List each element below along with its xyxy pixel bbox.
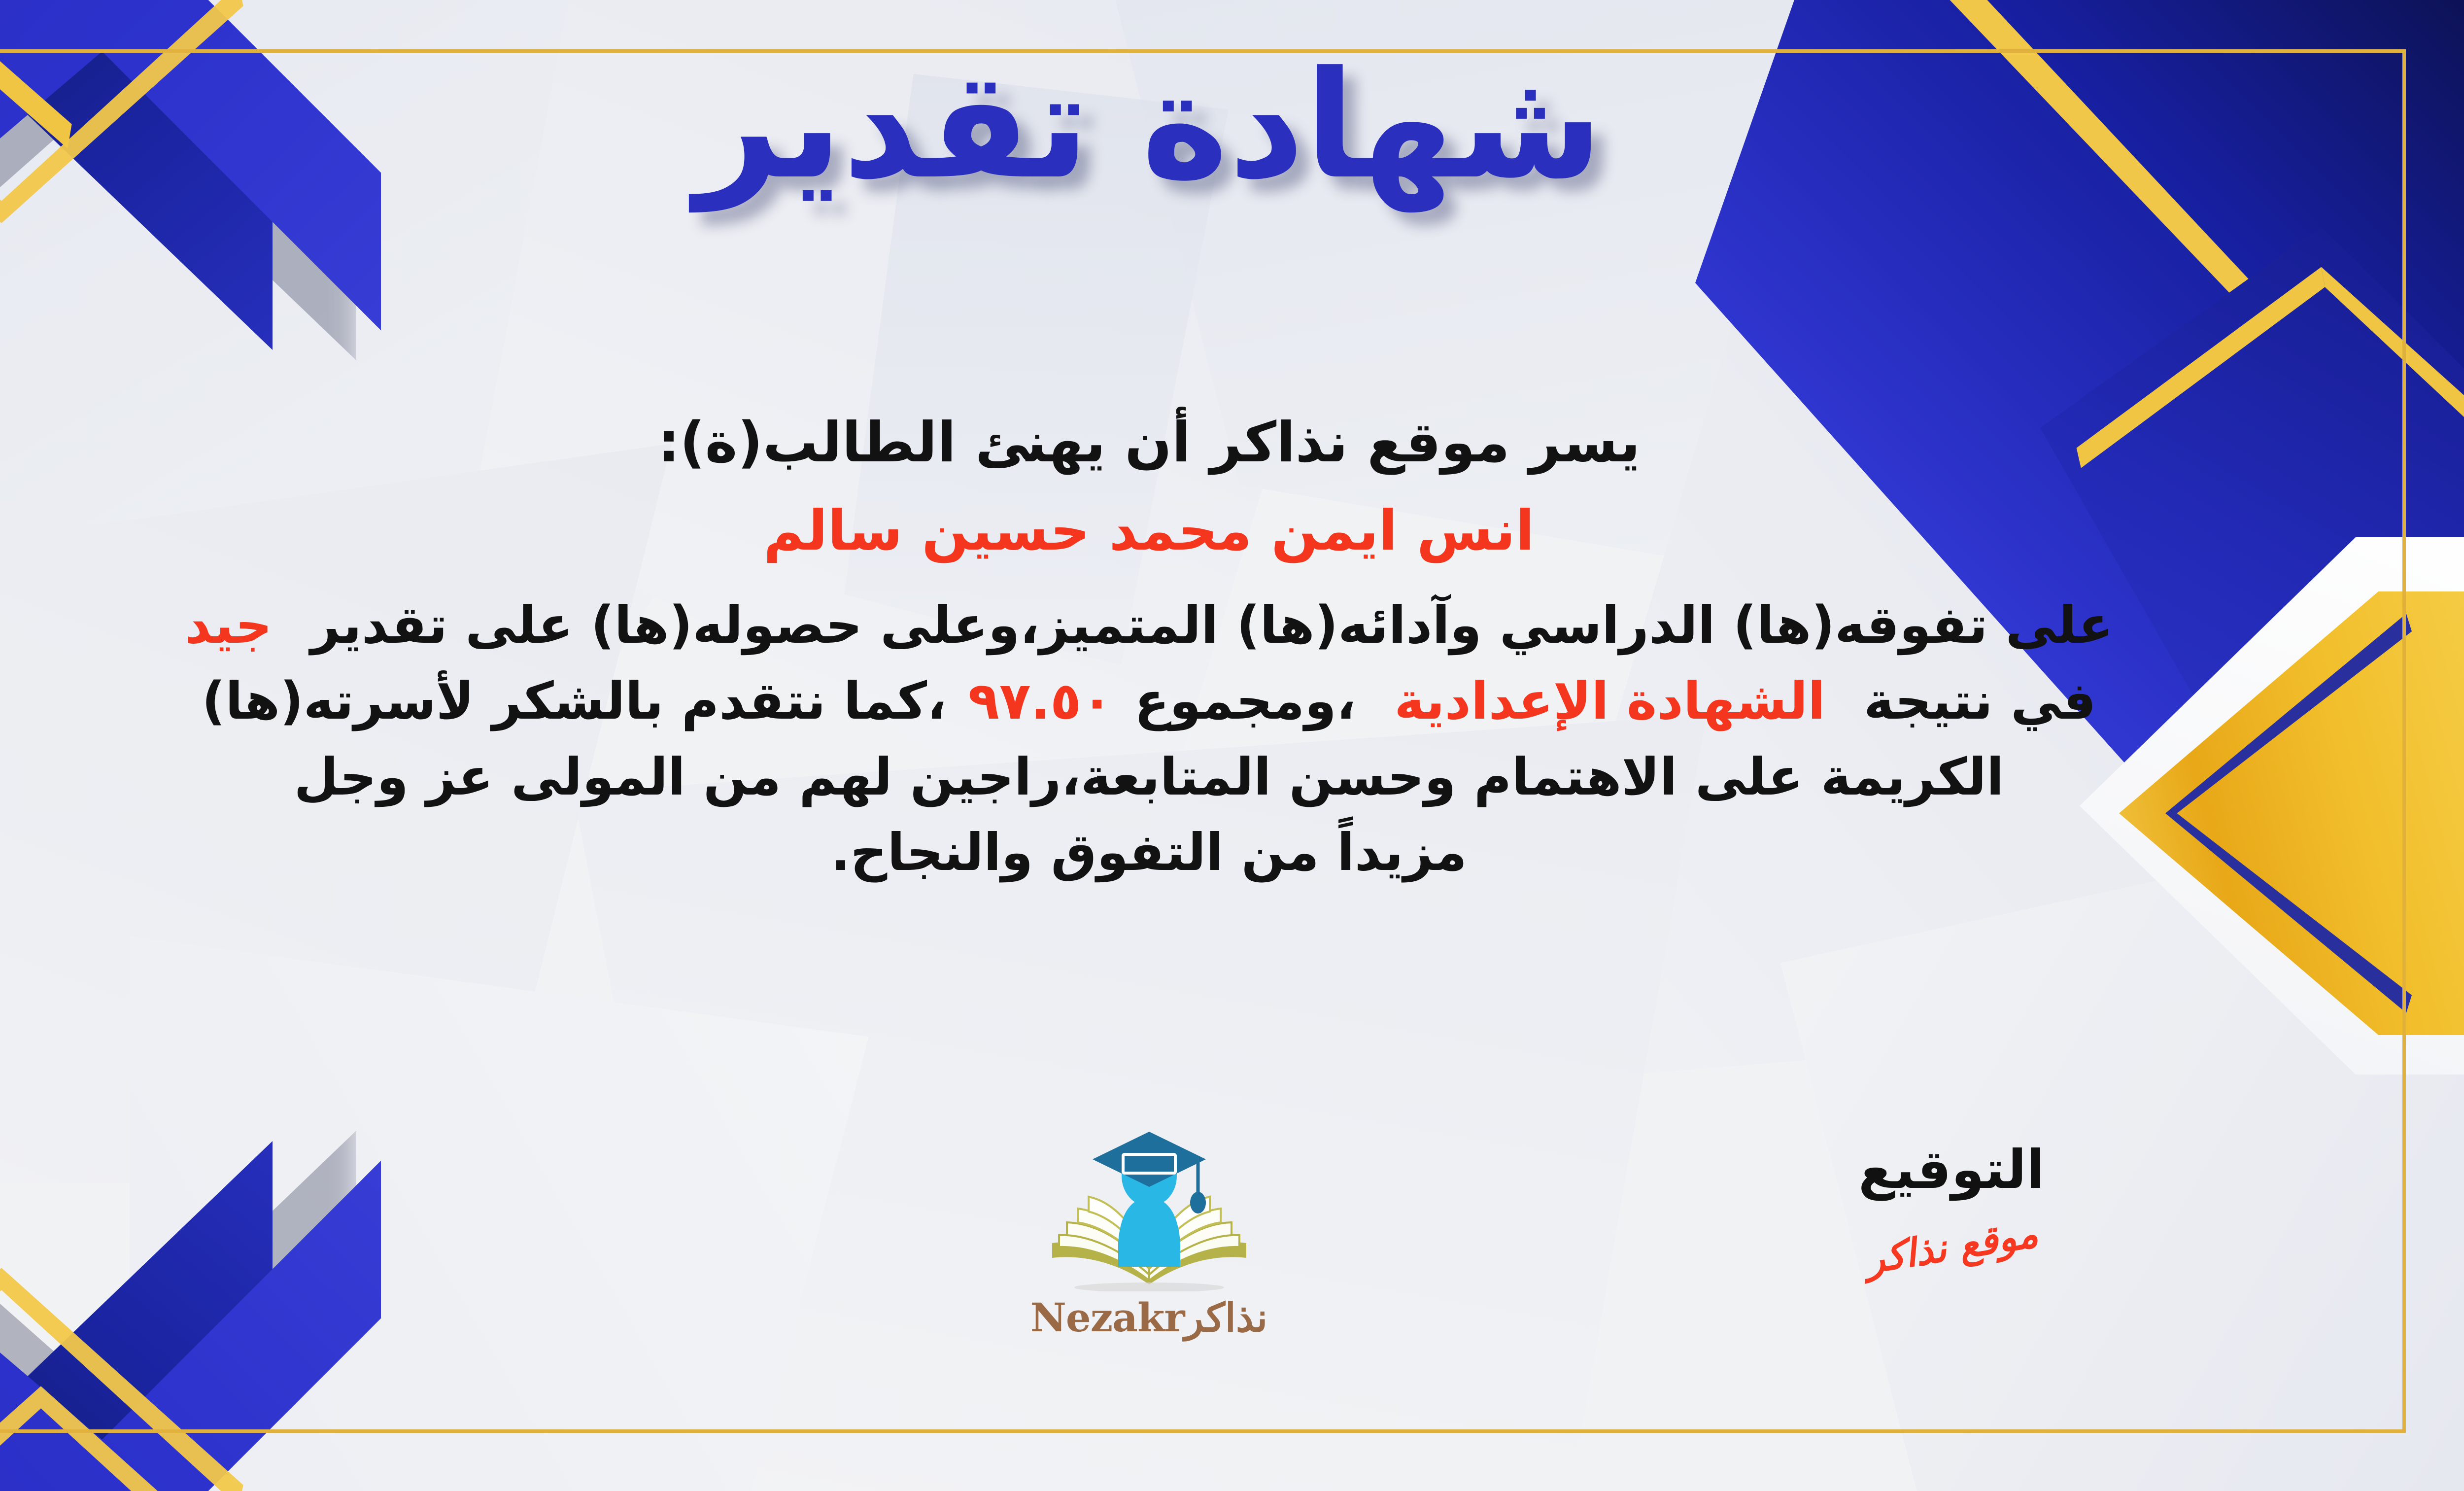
site-logo: نذاكرNezakr [1011,1129,1287,1341]
thanks-text: ،كما نتقدم بالشكر لأسرته(ها) [202,671,947,731]
logo-name-latin: Nezakr [1030,1294,1185,1341]
paragraph-line-2: في نتيجةالشهادة الإعدادية،ومجموع٩٧.٥٠،كم… [0,665,2375,738]
exam-name: الشهادة الإعدادية [1394,671,1825,731]
signature-block: التوقيع موقع نذاكر [1814,1144,2089,1269]
signature-mark: موقع نذاكر [1862,1211,2041,1283]
signature-label: التوقيع [1814,1144,2089,1197]
logo-wordmark: نذاكرNezakr [1011,1294,1287,1341]
student-name: انس ايمن محمد حسين سالم [0,497,2375,565]
logo-name-arabic: نذاكر [1185,1294,1268,1341]
paragraph-line-4: مزيداً من التفوق والنجاح. [0,816,2375,889]
grade-value: جيد [185,595,272,655]
paragraph-line-3: الكريمة على الاهتمام وحسن المتابعة،راجين… [0,741,2375,814]
certificate-content: شهادة تقدير يسر موقع نذاكر أن يهنئ الطال… [0,0,2464,1491]
total-score: ٩٧.٥٠ [968,671,1112,731]
paragraph-line-1: على تفوقه(ها) الدراسي وآدائه(ها) المتميز… [0,589,2375,662]
certificate-body: يسر موقع نذاكر أن يهنئ الطالب(ة): انس اي… [0,409,2375,892]
total-label: ،ومجموع [1134,671,1356,731]
certificate-title: شهادة تقدير [0,52,2464,200]
paragraph-line-1-text: على تفوقه(ها) الدراسي وآدائه(ها) المتميز… [310,595,2113,655]
result-prefix-text: في نتيجة [1864,671,2096,731]
greeting-line: يسر موقع نذاكر أن يهنئ الطالب(ة): [0,409,2375,477]
certificate-page: شهادة تقدير يسر موقع نذاكر أن يهنئ الطال… [0,0,2464,1491]
body-paragraph: على تفوقه(ها) الدراسي وآدائه(ها) المتميز… [0,589,2375,889]
graduate-book-logo-icon [1033,1129,1265,1291]
